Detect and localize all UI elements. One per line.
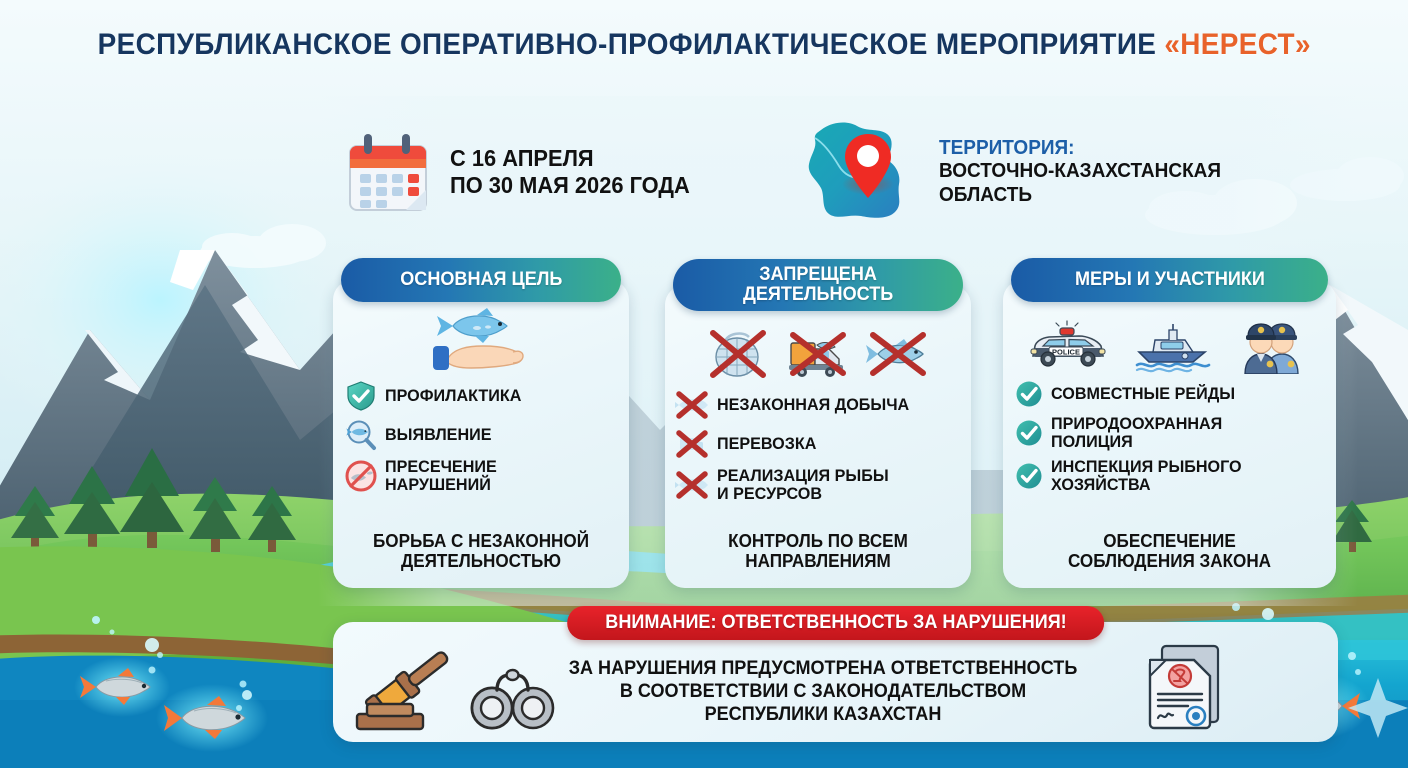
card-prohibited-footer: КОНТРОЛЬ ПО ВСЕМ НАПРАВЛЕНИЯМ bbox=[673, 531, 964, 578]
red-cross-icon bbox=[675, 469, 709, 501]
card-measures-title: МЕРЫ И УЧАСТНИКИ bbox=[1075, 270, 1265, 290]
top-info-row: С 16 АПРЕЛЯ ПО 30 МАЯ 2026 ГОДА bbox=[340, 118, 1350, 228]
bullet-label: ПРОФИЛАКТИКА bbox=[385, 387, 521, 405]
legal-document-icon bbox=[1138, 640, 1230, 736]
territory-value-1: ВОСТОЧНО-КАЗАХСТАНСКАЯ bbox=[939, 160, 1221, 183]
date-line-2: ПО 30 МАЯ 2026 ГОДА bbox=[450, 172, 690, 199]
banner-left-icons bbox=[351, 648, 557, 736]
date-line-1: С 16 АПРЕЛЯ bbox=[450, 145, 690, 172]
bullet-item: ПРОФИЛАКТИКА bbox=[345, 380, 617, 412]
bullet-label: ВЫЯВЛЕНИЕ bbox=[385, 426, 491, 444]
card-main-goal-header: ОСНОВНАЯ ЦЕЛЬ bbox=[341, 258, 621, 302]
card-main-goal-hero-icons bbox=[421, 312, 541, 374]
bullet-item: ПРЕСЕЧЕНИЕ НАРУШЕНИЙ bbox=[345, 458, 617, 494]
banner-right-icon-wrap bbox=[1138, 640, 1230, 741]
bullet-item: ИНСПЕКЦИЯ РЫБНОГО ХОЗЯЙСТВА bbox=[1015, 458, 1324, 494]
warning-pill-label: ВНИМАНИЕ: ОТВЕТСТВЕННОСТЬ ЗА НАРУШЕНИЯ! bbox=[605, 612, 1066, 634]
magnifier-fish-icon bbox=[345, 419, 377, 451]
bullet-label: ИНСПЕКЦИЯ РЫБНОГО ХОЗЯЙСТВА bbox=[1051, 458, 1242, 494]
page-title: РЕСПУБЛИКАНСКОЕ ОПЕРАТИВНО-ПРОФИЛАКТИЧЕС… bbox=[0, 28, 1408, 62]
check-circle-icon bbox=[1015, 419, 1043, 447]
date-block: С 16 АПРЕЛЯ ПО 30 МАЯ 2026 ГОДА bbox=[340, 124, 702, 220]
card-prohibited-title: ЗАПРЕЩЕНА ДЕЯТЕЛЬНОСТЬ bbox=[743, 265, 893, 305]
bullet-item: РЕАЛИЗАЦИЯ РЫБЫ И РЕСУРСОВ bbox=[675, 467, 961, 503]
bullet-item: СОВМЕСТНЫЕ РЕЙДЫ bbox=[1015, 380, 1324, 408]
title-accent: «НЕРЕСТ» bbox=[1164, 28, 1310, 61]
check-circle-icon bbox=[1015, 462, 1043, 490]
territory-value-2: ОБЛАСТЬ bbox=[939, 184, 1221, 207]
bullet-label: ПЕРЕВОЗКА bbox=[717, 435, 816, 453]
shield-check-icon bbox=[345, 380, 377, 412]
territory-label: ТЕРРИТОРИЯ: bbox=[939, 137, 1221, 160]
warning-pill: ВНИМАНИЕ: ОТВЕТСТВЕННОСТЬ ЗА НАРУШЕНИЯ! bbox=[567, 606, 1105, 640]
no-net-icon bbox=[705, 323, 771, 383]
police-officers-icon bbox=[1235, 318, 1313, 374]
card-measures-bullets: СОВМЕСТНЫЕ РЕЙДЫ ПРИРОДООХРАННАЯ ПОЛИЦИЯ… bbox=[1003, 380, 1336, 501]
card-prohibited-bullets: НЕЗАКОННАЯ ДОБЫЧА ПЕРЕВОЗКА bbox=[665, 389, 971, 510]
card-prohibited-header: ЗАПРЕЩЕНА ДЕЯТЕЛЬНОСТЬ bbox=[673, 259, 963, 311]
card-main-goal-title: ОСНОВНАЯ ЦЕЛЬ bbox=[400, 270, 562, 290]
calendar-icon bbox=[340, 124, 436, 220]
bullet-label: НЕЗАКОННАЯ ДОБЫЧА bbox=[717, 396, 909, 414]
title-main: РЕСПУБЛИКАНСКОЕ ОПЕРАТИВНО-ПРОФИЛАКТИЧЕС… bbox=[97, 28, 1164, 61]
card-measures: МЕРЫ И УЧАСТНИКИ POLICE bbox=[1003, 280, 1336, 588]
no-truck-icon bbox=[785, 323, 851, 383]
card-main-goal-footer: БОРЬБА С НЕЗАКОННОЙ ДЕЯТЕЛЬНОСТЬЮ bbox=[340, 531, 621, 578]
map-pin-icon bbox=[795, 118, 925, 226]
check-circle-icon bbox=[1015, 380, 1043, 408]
handcuffs-icon bbox=[467, 656, 557, 736]
banner-body-text: ЗА НАРУШЕНИЯ ПРЕДУСМОТРЕНА ОТВЕТСТВЕННОС… bbox=[557, 658, 1089, 726]
card-measures-hero-icons: POLICE bbox=[1027, 312, 1313, 374]
bullet-label: ПРЕСЕЧЕНИЕ НАРУШЕНИЙ bbox=[385, 458, 497, 494]
bullet-item: ВЫЯВЛЕНИЕ bbox=[345, 419, 617, 451]
gavel-icon bbox=[351, 648, 463, 736]
police-car-icon: POLICE bbox=[1027, 318, 1109, 374]
card-measures-footer: ОБЕСПЕЧЕНИЕ СОБЛЮДЕНИЯ ЗАКОНА bbox=[1011, 531, 1327, 578]
no-fishing-icon bbox=[345, 460, 377, 492]
card-measures-header: МЕРЫ И УЧАСТНИКИ bbox=[1011, 258, 1328, 302]
bullet-item: ПЕРЕВОЗКА bbox=[675, 428, 961, 460]
red-cross-icon bbox=[675, 389, 709, 421]
svg-text:POLICE: POLICE bbox=[1052, 348, 1080, 357]
territory-block: ТЕРРИТОРИЯ: ВОСТОЧНО-КАЗАХСТАНСКАЯ ОБЛАС… bbox=[795, 118, 1236, 226]
red-cross-icon bbox=[675, 428, 709, 460]
card-main-goal: ОСНОВНАЯ ЦЕЛЬ bbox=[333, 280, 629, 588]
card-main-goal-bullets: ПРОФИЛАКТИКА ВЫЯВЛЕНИЕ bbox=[333, 380, 629, 501]
card-prohibited: ЗАПРЕЩЕНА ДЕЯТЕЛЬНОСТЬ bbox=[665, 285, 971, 588]
card-prohibited-hero-icons bbox=[705, 321, 931, 383]
bullet-label: ПРИРОДООХРАННАЯ ПОЛИЦИЯ bbox=[1051, 415, 1222, 451]
bullet-item: НЕЗАКОННАЯ ДОБЫЧА bbox=[675, 389, 961, 421]
fish-in-hand-icon bbox=[421, 308, 541, 374]
bullet-label: РЕАЛИЗАЦИЯ РЫБЫ И РЕСУРСОВ bbox=[717, 467, 889, 503]
bullet-item: ПРИРОДООХРАННАЯ ПОЛИЦИЯ bbox=[1015, 415, 1324, 451]
infographic-root: РЕСПУБЛИКАНСКОЕ ОПЕРАТИВНО-ПРОФИЛАКТИЧЕС… bbox=[0, 0, 1408, 768]
warning-banner: ВНИМАНИЕ: ОТВЕТСТВЕННОСТЬ ЗА НАРУШЕНИЯ! bbox=[333, 622, 1338, 742]
bullet-label: СОВМЕСТНЫЕ РЕЙДЫ bbox=[1051, 385, 1235, 403]
no-fish-icon bbox=[865, 323, 931, 383]
patrol-boat-icon bbox=[1131, 318, 1213, 374]
